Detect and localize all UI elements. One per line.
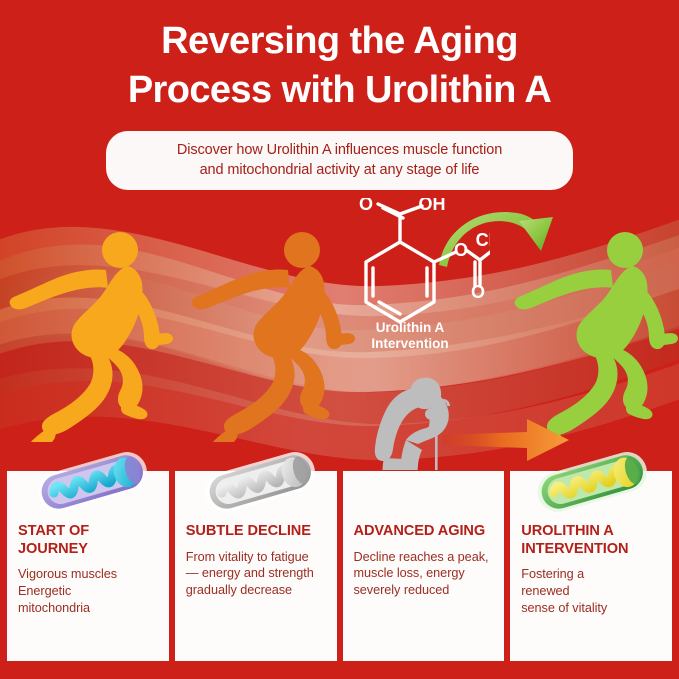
card-title-line-2: AGING bbox=[438, 523, 485, 539]
card-body-line-1: Decline reaches a peak, bbox=[354, 549, 494, 566]
card-title: SUBTLE DECLINE bbox=[186, 523, 326, 541]
card-body-line-2: Energetic bbox=[18, 583, 158, 600]
stage-card-start-of-journey[interactable]: START OF JOURNEY Vigorous muscles Energe… bbox=[6, 470, 170, 662]
molecule-label-ketone-o: O bbox=[471, 282, 485, 302]
card-body: Vigorous muscles Energetic mitochondria bbox=[18, 566, 158, 617]
molecule-label-hydroxyl: OH bbox=[419, 198, 446, 214]
card-title-line-2: JOURNEY bbox=[18, 541, 88, 557]
card-body: Decline reaches a peak, muscle loss, ene… bbox=[354, 549, 494, 600]
card-body-line-2: — energy and strength bbox=[186, 565, 326, 582]
card-title: ADVANCED AGING bbox=[354, 523, 494, 541]
molecule-caption-line-2: Intervention bbox=[330, 336, 490, 352]
header: Reversing the Aging Process with Urolith… bbox=[0, 0, 679, 190]
card-body: Fostering a renewed sense of vitality bbox=[521, 566, 661, 617]
card-title-line-2: DECLINE bbox=[248, 523, 311, 539]
title-line-2: Process with Urolithin A bbox=[0, 71, 679, 109]
stage-card-subtle-decline[interactable]: SUBTLE DECLINE From vitality to fatigue … bbox=[174, 470, 338, 662]
molecule-label-carbonyl-o: O bbox=[359, 198, 373, 214]
page-title: Reversing the Aging Process with Urolith… bbox=[0, 22, 679, 109]
card-title-line-1: UROLITHIN A bbox=[521, 523, 613, 539]
card-body-line-1: Fostering a bbox=[521, 566, 661, 583]
card-body-line-1: Vigorous muscles bbox=[18, 566, 158, 583]
card-body-line-2: muscle loss, energy bbox=[354, 565, 494, 582]
card-title-line-1: SUBTLE bbox=[186, 523, 244, 539]
card-title: START OF JOURNEY bbox=[18, 523, 158, 558]
card-title-line-2: INTERVENTION bbox=[521, 541, 628, 557]
card-body: From vitality to fatigue — energy and st… bbox=[186, 549, 326, 600]
molecule-caption-line-1: Urolithin A bbox=[330, 320, 490, 336]
infographic-poster: Reversing the Aging Process with Urolith… bbox=[0, 0, 679, 679]
subtitle-banner: Discover how Urolithin A influences musc… bbox=[106, 131, 573, 190]
molecule-label-ester-o: O bbox=[454, 240, 468, 260]
card-body-line-3: gradually decrease bbox=[186, 582, 326, 599]
stage-card-advanced-aging[interactable]: ADVANCED AGING Decline reaches a peak, m… bbox=[342, 470, 506, 662]
title-line-1: Reversing the Aging bbox=[0, 22, 679, 60]
card-body-line-1: From vitality to fatigue bbox=[186, 549, 326, 566]
card-title: UROLITHIN A INTERVENTION bbox=[521, 523, 661, 558]
subtitle-line-2: and mitochondrial activity at any stage … bbox=[120, 160, 559, 180]
card-body-line-3: sense of vitality bbox=[521, 600, 661, 617]
vigorous-runner-silhouette-icon bbox=[8, 222, 180, 442]
molecule-caption: Urolithin A Intervention bbox=[330, 320, 490, 353]
stage-card-urolithin-a-intervention[interactable]: UROLITHIN A INTERVENTION Fostering a ren… bbox=[509, 470, 673, 662]
subtitle-line-1: Discover how Urolithin A influences musc… bbox=[120, 140, 559, 160]
molecule-label-methyl: CH3 bbox=[476, 230, 490, 253]
orange-straight-arrow-icon bbox=[443, 413, 573, 468]
card-body-line-3: mitochondria bbox=[18, 600, 158, 617]
stage-cards-row: START OF JOURNEY Vigorous muscles Energe… bbox=[6, 470, 673, 662]
card-title-line-1: START OF bbox=[18, 523, 89, 539]
card-body-line-2: renewed bbox=[521, 583, 661, 600]
card-title-line-1: ADVANCED bbox=[354, 523, 435, 539]
card-body-line-3: severely reduced bbox=[354, 582, 494, 599]
